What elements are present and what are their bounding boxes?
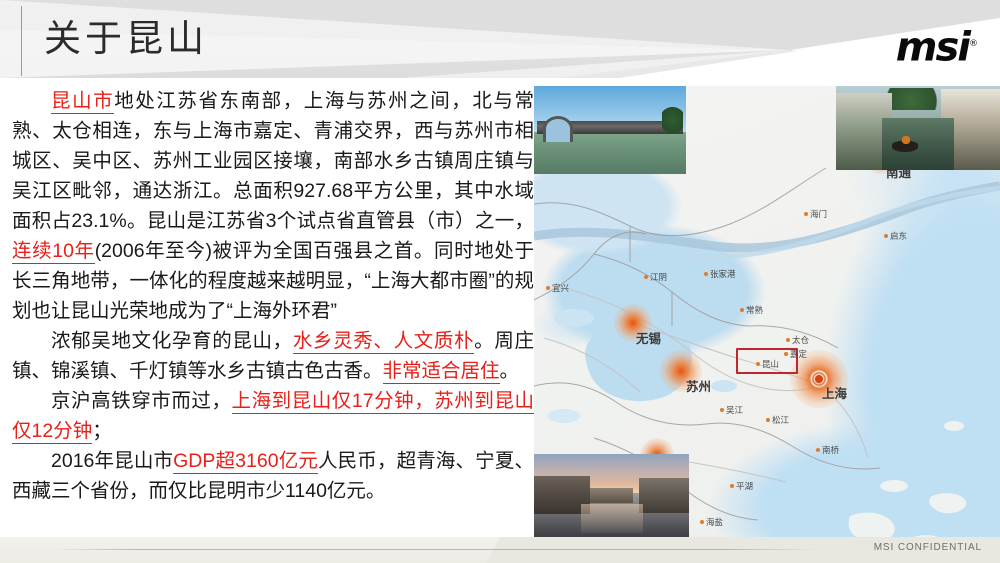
photo-reflection [581,504,643,533]
highlight-run: GDP超3160亿元 [173,450,318,474]
paragraph-4: 2016年昆山市GDP超3160亿元人民币，超青海、宁夏、西藏三个省份，而仅比昆… [12,446,534,506]
highlight-run: 非常适合居住 [383,360,500,384]
map-city-name: 嘉定 [790,349,807,359]
map-city-太仓: 太仓 [786,334,809,346]
map-city-无锡: 无锡 [636,328,661,347]
paragraph-1: 昆山市地处江苏省东南部，上海与苏州之间，北与常熟、太仓相连，东与上海市嘉定、青浦… [12,86,534,326]
slide-footer: MSI CONFIDENTIAL [0,537,1000,563]
map-city-name: 无锡 [636,332,661,346]
map-city-dot-icon [766,418,770,422]
map-city-江阴: 江阴 [644,271,667,283]
map-city-松江: 松江 [766,414,789,426]
map-city-南桥: 南桥 [816,444,839,456]
map-city-昆山: 昆山 [756,358,779,370]
registered-mark-icon: ® [969,39,978,49]
footer-divider-line [48,549,818,550]
map-city-name: 启东 [890,231,907,241]
text-run: 。 [500,360,520,382]
paragraph-3: 京沪高铁穿市而过，上海到昆山仅17分钟，苏州到昆山仅12分钟； [12,386,534,446]
map-city-name: 常熟 [746,305,763,315]
highlight-run: 水乡灵秀、人文质朴 [293,330,474,354]
map-city-dot-icon [786,338,790,342]
slide-root: 关于昆山 msi® 昆山市地处江苏省东南部，上海与苏州之间，北与常熟、太仓相连，… [0,0,1000,563]
msi-logo-text: msi [896,24,969,70]
map-city-宜兴: 宜兴 [546,282,569,294]
confidential-label: MSI CONFIDENTIAL [874,542,982,553]
stone-bridge-photo [534,86,686,174]
map-city-启东: 启东 [884,230,907,242]
map-city-dot-icon [884,234,888,238]
map-city-name: 上海 [822,387,847,401]
map-city-name: 苏州 [686,380,711,394]
text-run: 浓郁吴地文化孕育的昆山， [51,330,293,352]
photo-distant-buildings [590,488,633,503]
map-city-name: 江阴 [650,272,667,282]
map-city-name: 平湖 [736,481,753,491]
map-city-dot-icon [730,484,734,488]
map-city-常熟: 常熟 [740,304,763,316]
map-city-平湖: 平湖 [730,480,753,492]
highlight-run: 昆山市 [51,90,114,114]
photo-boatman [902,136,910,144]
map-city-dot-icon [756,362,760,366]
map-city-name: 宜兴 [552,283,569,293]
media-panel: 南通江阴张家港常熟宜兴无锡苏州太仓昆山嘉定上海吴江松江南桥嘉兴桐乡平湖海盐海门启… [534,86,1000,538]
title-divider-rule [21,6,22,76]
map-city-dot-icon [700,520,704,524]
map-city-dot-icon [644,275,648,279]
map-city-name: 南桥 [822,445,839,455]
map-city-dot-icon [740,308,744,312]
water-town-photo [534,454,689,538]
photo-bridge-arch [543,116,573,142]
text-run: ； [92,420,112,442]
map-city-name: 吴江 [726,405,743,415]
map-city-name: 海盐 [706,517,723,527]
map-city-dot-icon [784,352,788,356]
page-title: 关于昆山 [44,10,208,68]
highlight-run: 连续10年 [12,240,95,264]
map-city-海盐: 海盐 [700,516,723,528]
msi-logo: msi® [896,24,978,67]
text-run: 京沪高铁穿市而过， [51,390,232,412]
map-city-嘉定: 嘉定 [784,348,807,360]
map-city-吴江: 吴江 [720,404,743,416]
map-city-dot-icon [546,286,550,290]
body-text-column: 昆山市地处江苏省东南部，上海与苏州之间，北与常熟、太仓相连，东与上海市嘉定、青浦… [0,86,538,526]
map-city-苏州: 苏州 [686,376,711,395]
paragraph-2: 浓郁吴地文化孕育的昆山，水乡灵秀、人文质朴。周庄镇、锦溪镇、千灯镇等水乡古镇古色… [12,326,534,386]
map-city-name: 海门 [810,209,827,219]
map-city-dot-icon [704,272,708,276]
slide-header: 关于昆山 msi® [0,0,1000,78]
canal-boat-photo [836,86,1000,170]
map-city-dot-icon [804,212,808,216]
map-city-name: 太仓 [792,335,809,345]
map-city-张家港: 张家港 [704,268,736,280]
map-city-上海: 上海 [822,383,847,402]
map-city-name: 张家港 [710,269,736,279]
map-city-name: 昆山 [762,359,779,369]
photo-tree [662,105,683,135]
photo-right-buildings [639,478,689,513]
map-city-dot-icon [720,408,724,412]
map-city-海门: 海门 [804,208,827,220]
map-city-dot-icon [816,448,820,452]
text-run: 2016年昆山市 [51,450,173,472]
map-city-name: 松江 [772,415,789,425]
